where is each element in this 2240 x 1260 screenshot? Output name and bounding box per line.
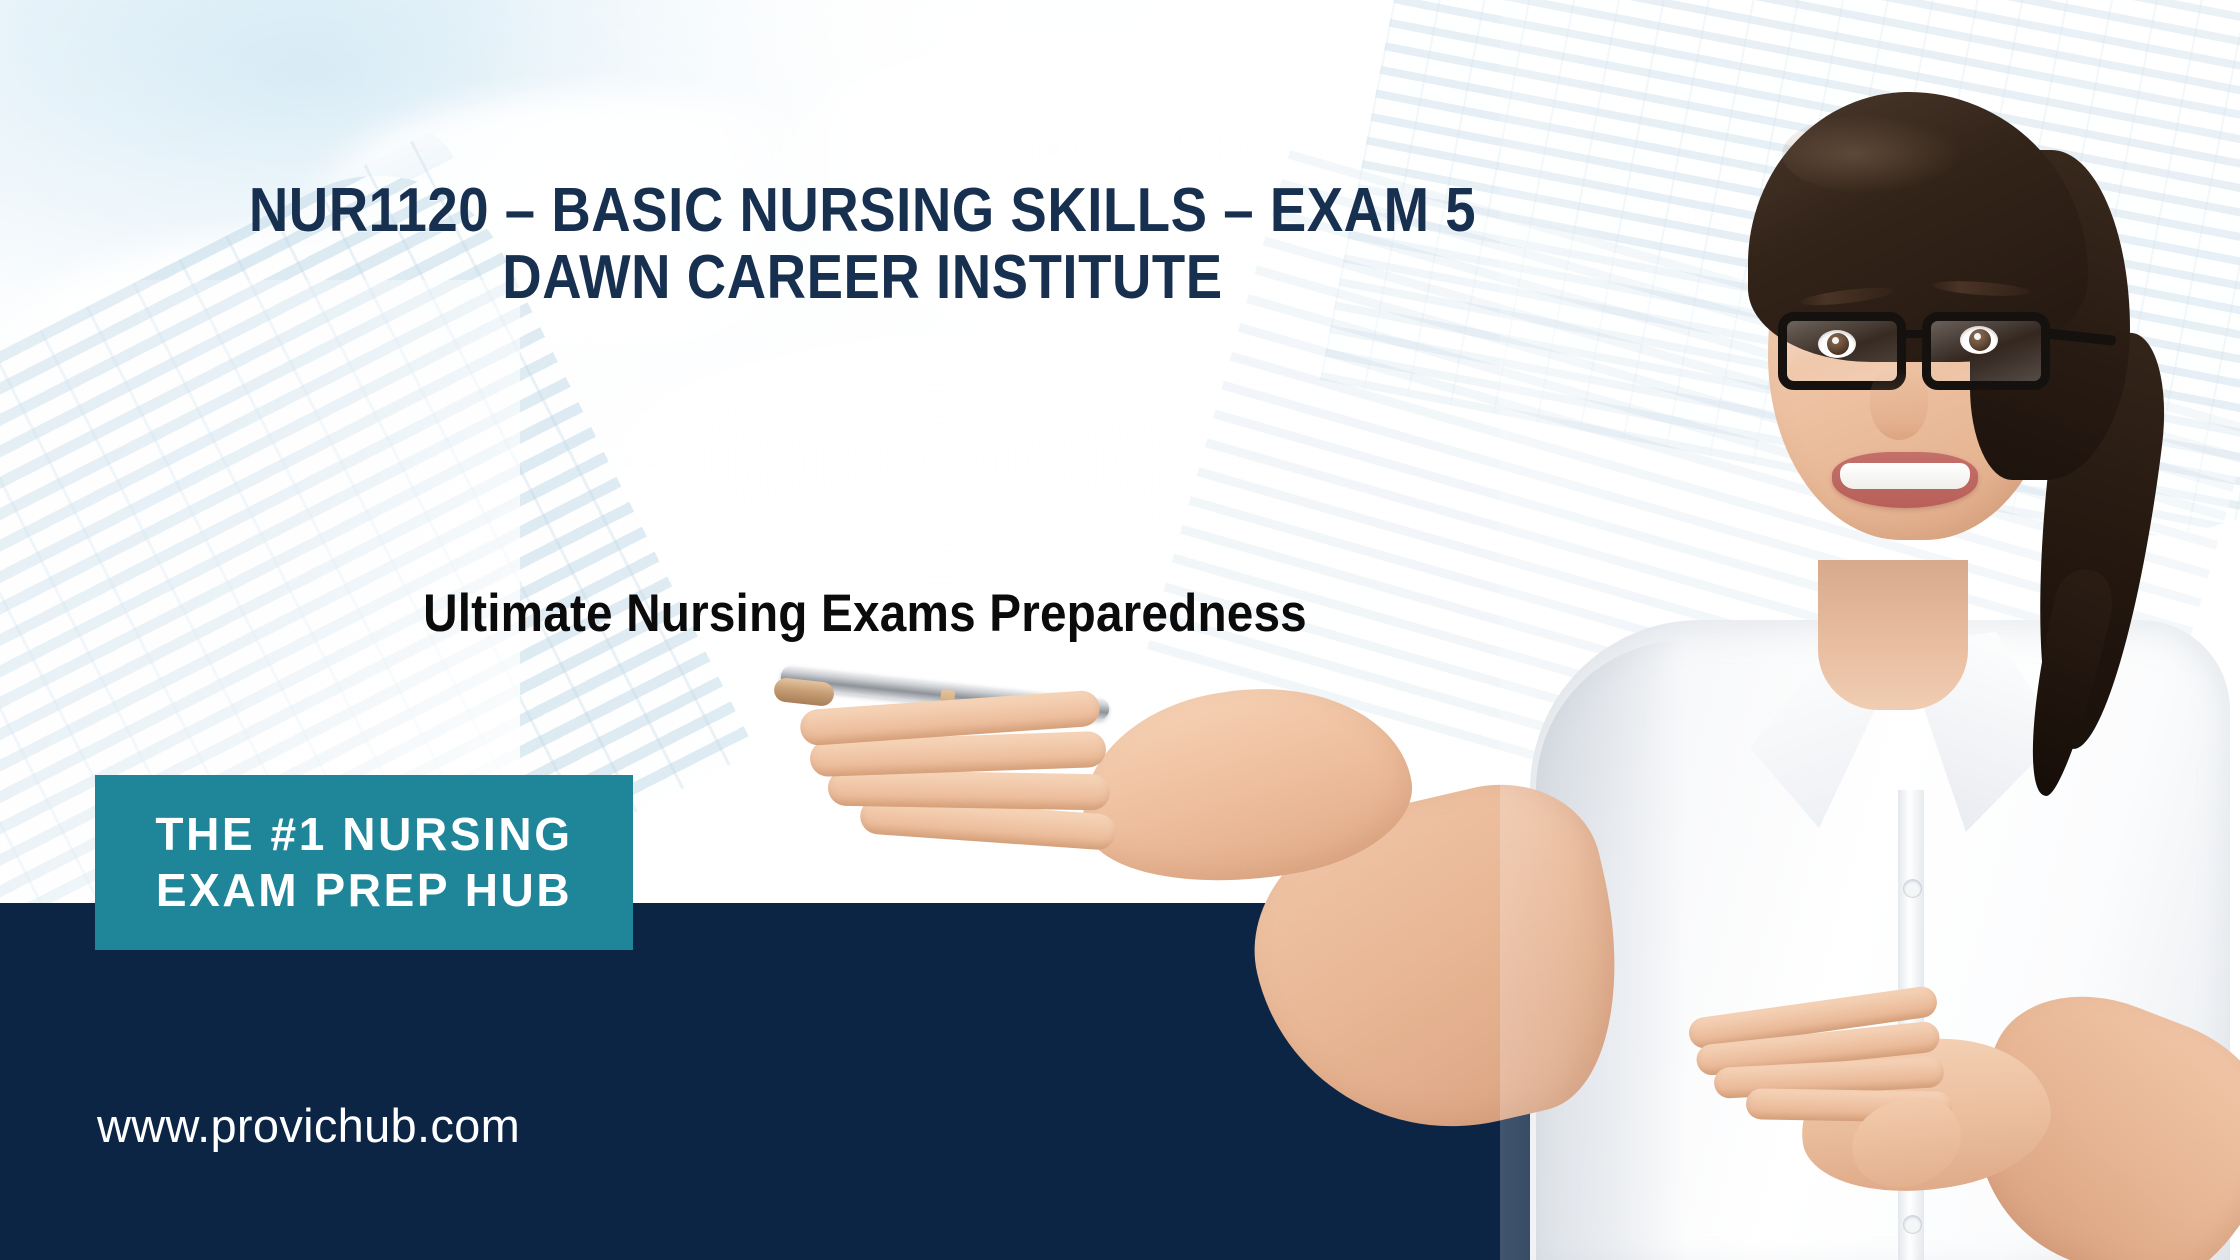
nose	[1870, 368, 1928, 440]
person-photo	[1500, 0, 2240, 1260]
shirt-button	[1904, 880, 1921, 897]
neck	[1818, 560, 1968, 710]
glasses-lens-right	[1922, 312, 2050, 390]
badge-line-2: EXAM PREP HUB	[156, 864, 572, 918]
website-url[interactable]: www.provichub.com	[97, 1098, 520, 1153]
finger	[828, 770, 1111, 811]
glasses-bridge	[1902, 330, 1928, 338]
status-badge: THE #1 NURSING EXAM PREP HUB	[95, 775, 633, 950]
badge-line-1: THE #1 NURSING	[155, 808, 572, 862]
shirt-button	[1904, 1216, 1921, 1233]
promo-banner: NUR1120 – BASIC NURSING SKILLS – EXAM 5 …	[0, 0, 2240, 1260]
smiling-mouth	[1832, 452, 1978, 508]
teeth	[1840, 463, 1970, 489]
